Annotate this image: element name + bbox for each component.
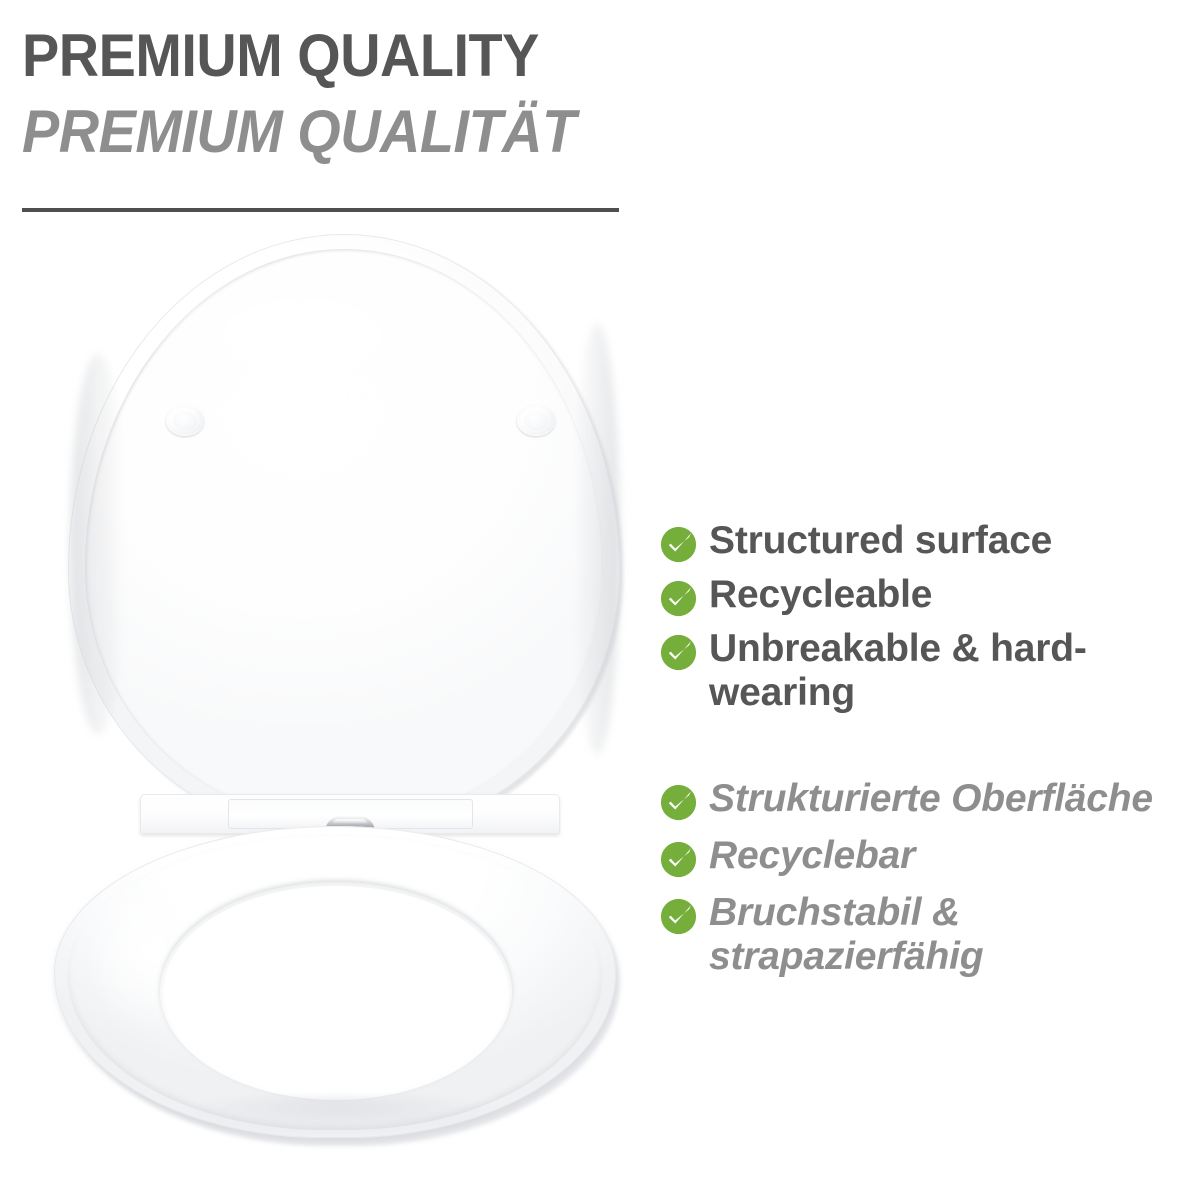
- feature-label: Unbreakable & hard-wearing: [709, 627, 1180, 715]
- lid-right-shading: [574, 324, 620, 754]
- feature-list-english: Structured surface Recycleable: [660, 519, 1180, 715]
- check-circle-icon: [660, 841, 697, 878]
- ring-body: [54, 826, 616, 1138]
- lid-left-shading: [70, 354, 126, 734]
- check-circle-icon: [660, 526, 697, 563]
- feature-label: Strukturierte Oberfläche: [709, 777, 1153, 821]
- header-divider: [22, 208, 619, 212]
- feature-item: Strukturierte Oberfläche: [660, 777, 1180, 821]
- feature-item: Recycleable: [660, 573, 1180, 617]
- product-image-toilet-seat: [40, 226, 640, 1156]
- feature-lists: Structured surface Recycleable: [660, 519, 1180, 993]
- feature-label: Structured surface: [709, 519, 1052, 563]
- check-circle-icon: [660, 784, 697, 821]
- lid-highlight: [138, 260, 468, 410]
- check-circle-icon: [660, 580, 697, 617]
- toilet-seat-lid: [68, 234, 633, 844]
- feature-item: Bruchstabil & strapazierfähig: [660, 891, 1180, 979]
- ring-bottom-shading: [174, 1096, 504, 1136]
- page-title-german: PREMIUM QUALITÄT: [22, 102, 673, 162]
- page-title-english: PREMIUM QUALITY: [22, 26, 673, 86]
- feature-label: Recyclebar: [709, 834, 915, 878]
- feature-label: Bruchstabil & strapazierfähig: [709, 891, 1180, 979]
- feature-list-german: Strukturierte Oberfläche Recyclebar: [660, 777, 1180, 979]
- check-circle-icon: [660, 898, 697, 935]
- feature-item: Unbreakable & hard-wearing: [660, 627, 1180, 715]
- header: PREMIUM QUALITY PREMIUM QUALITÄT: [22, 26, 722, 162]
- ring-opening: [160, 882, 512, 1100]
- feature-item: Recyclebar: [660, 834, 1180, 878]
- ring-opening-inner: [164, 886, 508, 1096]
- check-circle-icon: [660, 634, 697, 671]
- lid-body: [68, 234, 620, 834]
- feature-label: Recycleable: [709, 573, 932, 617]
- feature-item: Structured surface: [660, 519, 1180, 563]
- bumper-pad-left-icon: [166, 406, 204, 436]
- bumper-pad-right-icon: [517, 406, 555, 436]
- toilet-seat-ring: [50, 826, 630, 1156]
- product-infographic: PREMIUM QUALITY PREMIUM QUALITÄT: [0, 0, 1200, 1200]
